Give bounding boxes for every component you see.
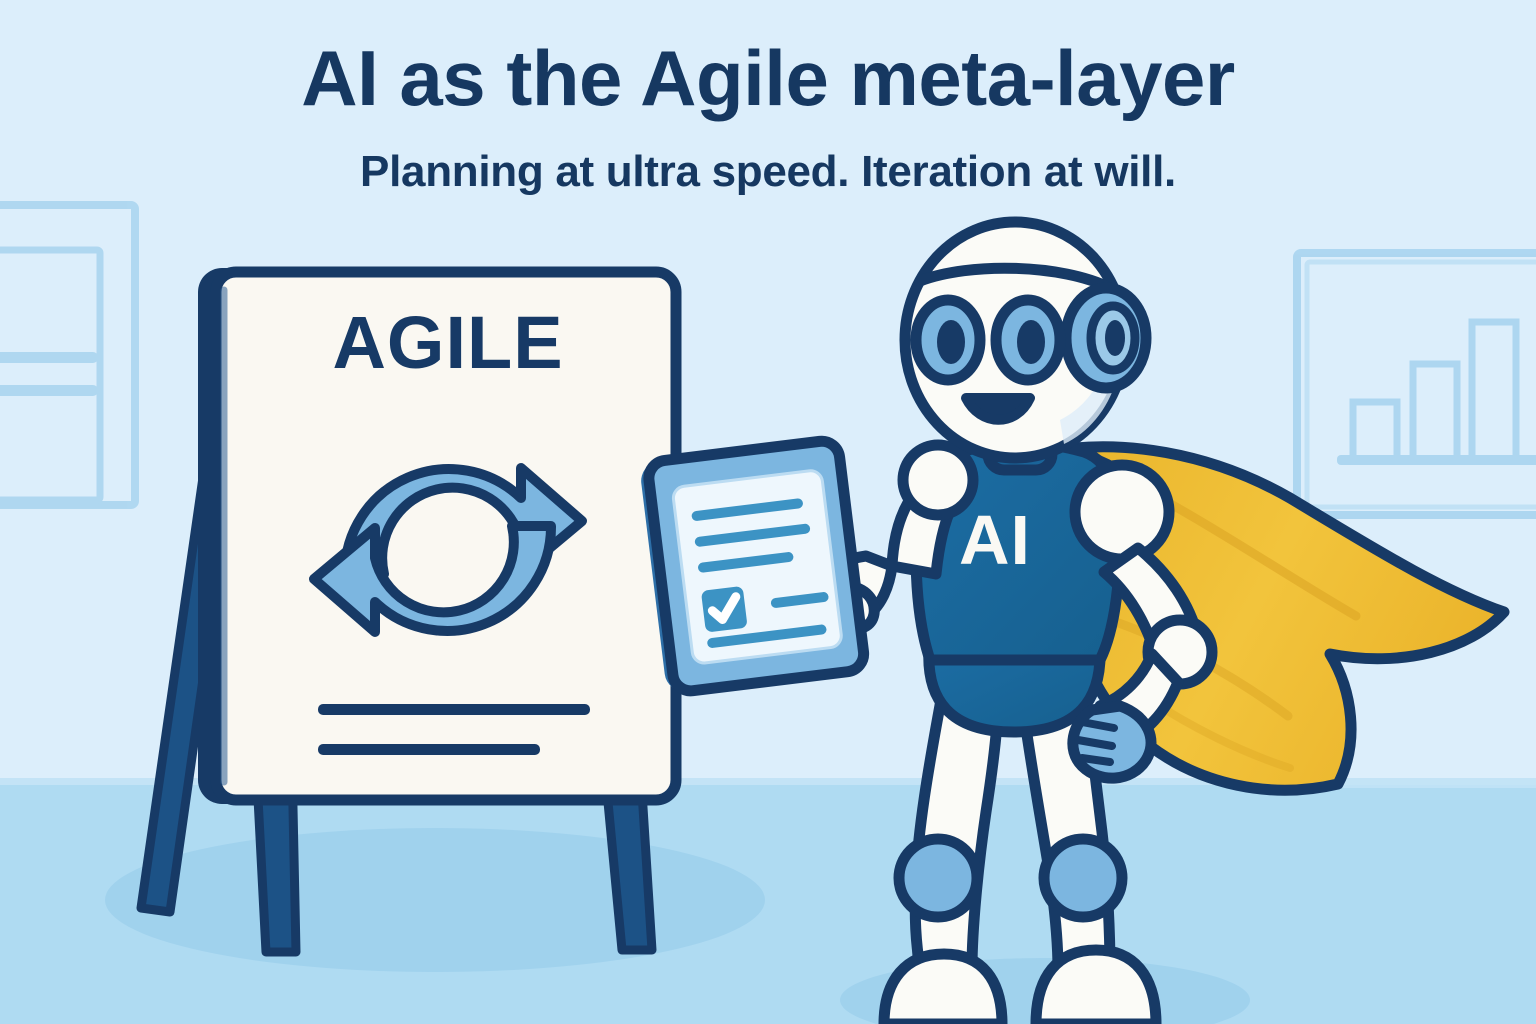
clipboard-checkbox-checked	[701, 586, 748, 633]
robot-eye-right	[996, 300, 1060, 380]
flipchart-board	[198, 268, 678, 804]
robot-ear-piece	[1066, 288, 1146, 388]
robot-knee-left	[899, 839, 977, 917]
robot-eye-left	[916, 300, 980, 380]
clipboard-checklist-icon	[639, 439, 866, 694]
illustration-canvas: AI as the Agile meta-layer Planning at u…	[0, 0, 1536, 1024]
scene-artwork	[0, 0, 1536, 1024]
robot-knee-right	[1044, 839, 1122, 917]
easel-floor-shadow	[105, 828, 765, 972]
